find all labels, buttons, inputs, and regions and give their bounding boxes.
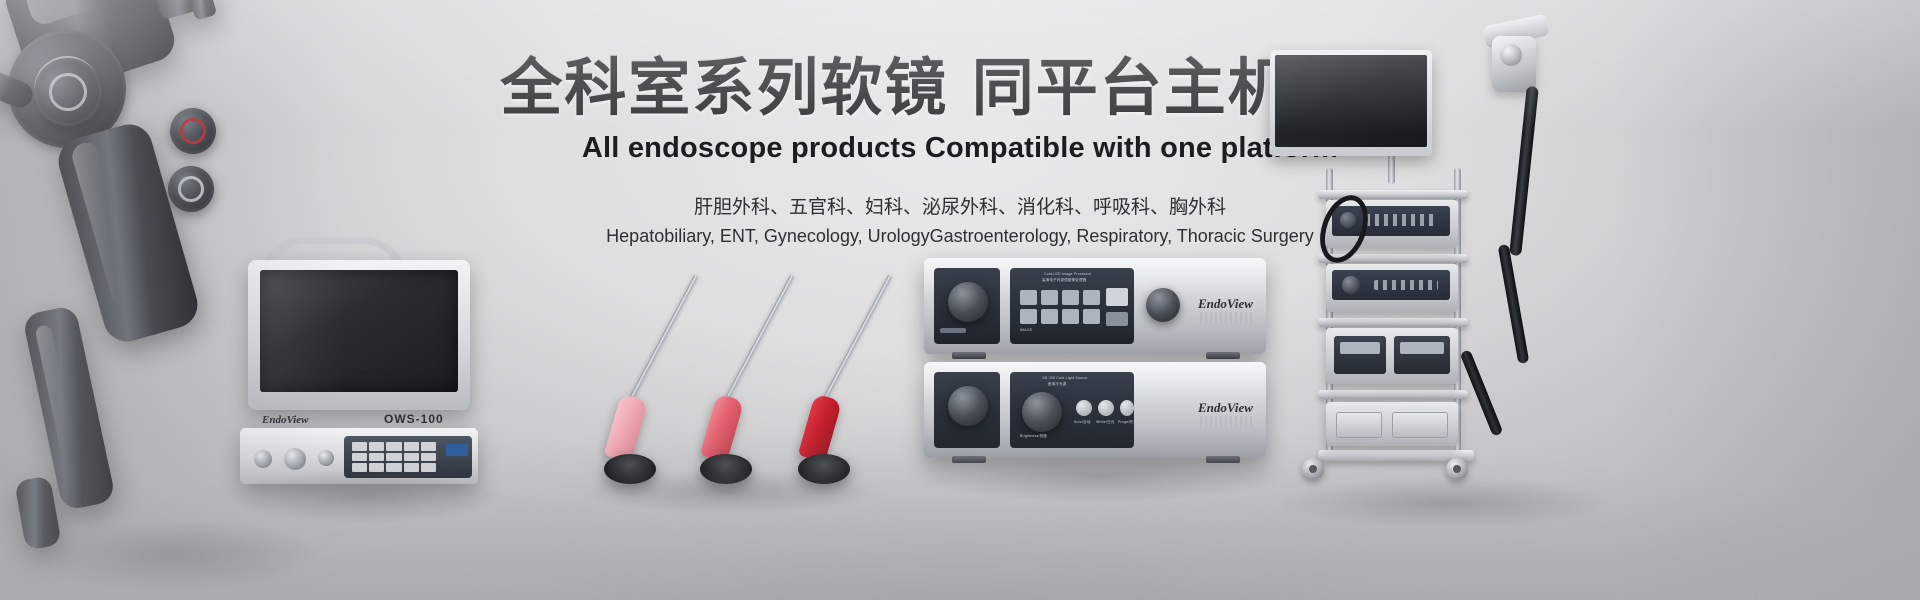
processor-scope-socket	[948, 282, 988, 322]
cart-display-monitor	[1270, 50, 1432, 156]
cart-unit-3	[1326, 328, 1458, 384]
workstation-model-label: OWS-100	[384, 412, 444, 426]
lightsource-brand-label: EndoView	[1198, 400, 1253, 416]
cart-scope-distal-tube	[1498, 244, 1530, 364]
processor-title-cn: 高清电子内窥镜图像处理器	[1042, 278, 1086, 283]
suction-valve-button	[170, 108, 216, 154]
workstation-brand-label: EndoView	[262, 414, 308, 426]
endoscope-workstation: EndoView OWS-100	[232, 238, 482, 478]
rigid-instrument-red	[706, 258, 866, 488]
lightsource-foot-left	[952, 456, 986, 463]
cart-caster-left	[1302, 458, 1324, 480]
lightsource-button-label-3: Purge/吹气	[1118, 420, 1137, 425]
processor-usb-port	[1106, 288, 1128, 306]
cart-caster-right	[1446, 458, 1468, 480]
lightsource-fiber-socket	[948, 386, 988, 426]
lightsource-title-cn: 医用冷光源	[1048, 382, 1067, 387]
workstation-port-3	[318, 450, 334, 466]
lightsource-button-auto	[1076, 400, 1092, 416]
workstation-port-2	[284, 448, 306, 470]
processor-vent-grille	[1200, 312, 1254, 324]
lightsource-button-label-1: Auto/自动	[1074, 420, 1091, 425]
cart-unit-4	[1326, 402, 1458, 446]
processor-foot-right	[1206, 352, 1240, 359]
lightsource-foot-right	[1206, 456, 1240, 463]
processor-brand-label: EndoView	[1198, 296, 1253, 312]
endoscope-product-banner: 全科室系列软镜 同平台主机兼容 All endoscope products C…	[0, 0, 1920, 600]
processor-sublabel: IMAGE	[1020, 328, 1032, 333]
workstation-port-1	[254, 450, 272, 468]
cart-scope-insertion-tube	[1509, 86, 1539, 256]
workstation-keypad	[352, 442, 436, 472]
airwater-valve-button	[168, 166, 214, 212]
processor-power-knob	[1146, 288, 1180, 322]
processor-foot-left	[952, 352, 986, 359]
cart-scope-knob	[1500, 44, 1522, 66]
processor-button-grid	[1020, 290, 1100, 324]
lightsource-button-purge	[1120, 400, 1134, 416]
brightness-knob-label: Brightness/亮度	[1020, 434, 1047, 439]
processor-left-slot	[940, 328, 966, 333]
cold-light-source-unit: OS-300 Cold Light Source 医用冷光源 Brightnes…	[924, 362, 1266, 458]
image-processor-unit: Cold-LED Image Processor 高清电子内窥镜图像处理器 IM…	[924, 258, 1266, 354]
lightsource-vent-grille	[1200, 416, 1254, 428]
workstation-screen	[260, 270, 458, 392]
endoscopy-tower-cart	[1296, 18, 1596, 498]
cart-unit-2	[1326, 264, 1458, 312]
workstation-status-indicator	[446, 444, 468, 456]
lightsource-button-white	[1098, 400, 1114, 416]
lightsource-button-label-2: White/白光	[1096, 420, 1115, 425]
processor-card-slot	[1106, 312, 1128, 326]
processor-title-en: Cold-LED Image Processor	[1044, 272, 1091, 277]
brightness-knob	[1022, 392, 1062, 432]
lightsource-title-en: OS-300 Cold Light Source	[1042, 376, 1088, 381]
